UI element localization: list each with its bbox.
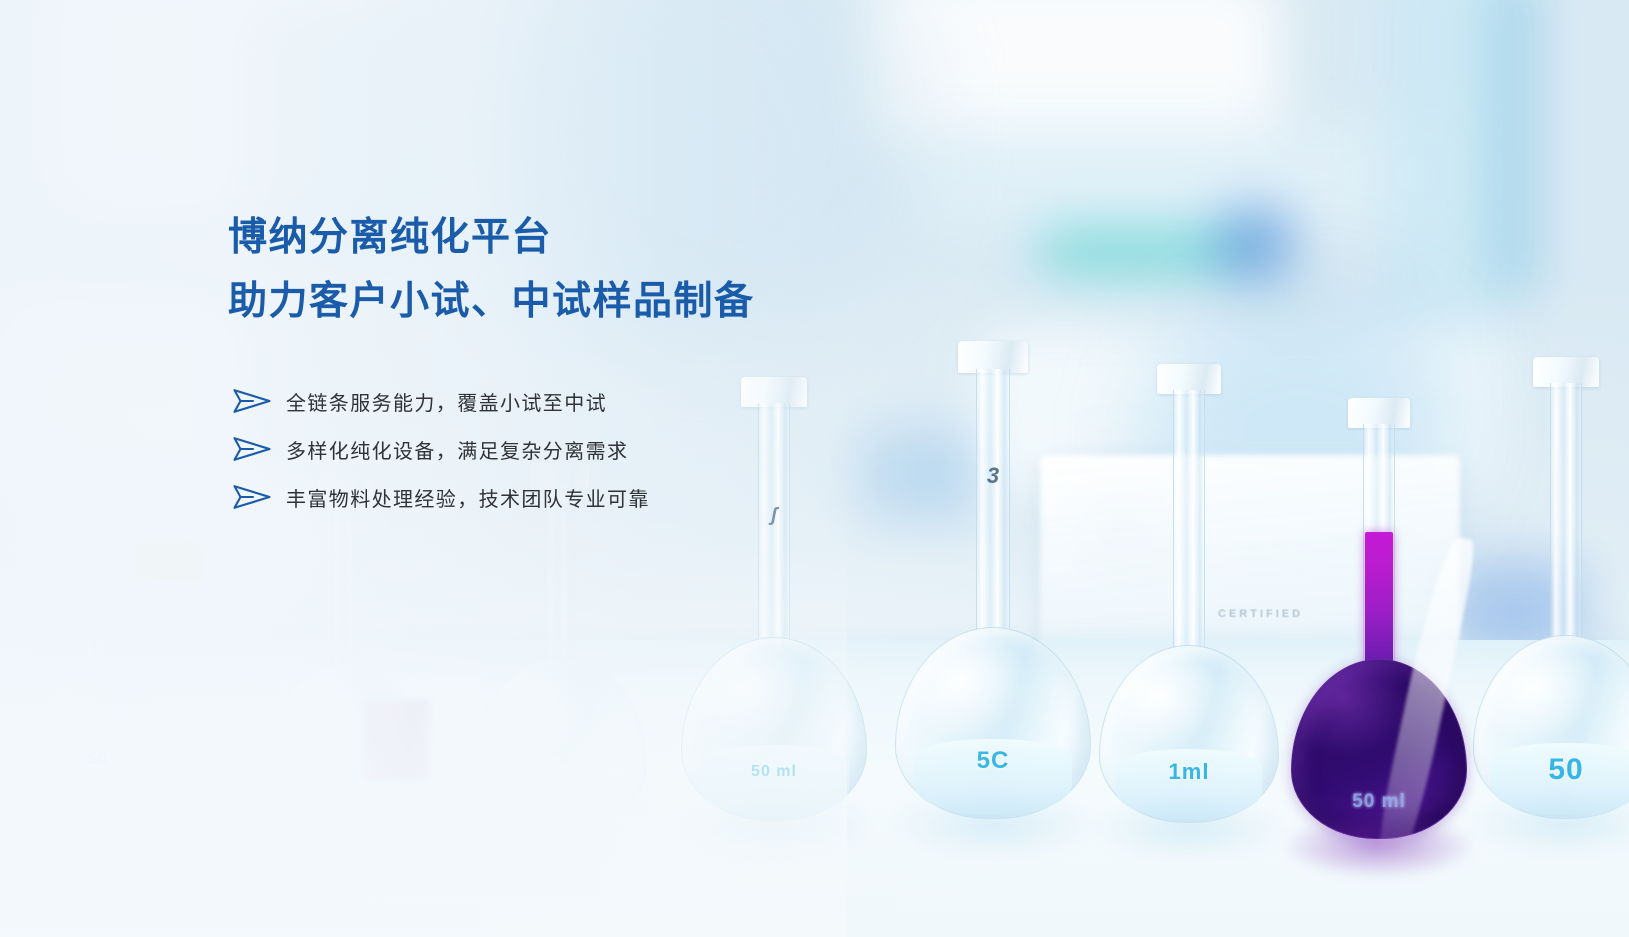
headline-line-2: 助力客户小试、中试样品制备 xyxy=(228,270,988,334)
feature-list: 全链条服务能力，覆盖小试至中试 多样化纯化设备，满足复杂分离需求 xyxy=(230,377,988,521)
yellow-card xyxy=(133,542,203,582)
flask-1: 50 xyxy=(18,537,178,937)
send-arrow-icon xyxy=(230,482,274,512)
hero-banner: CERTIFIED 50 xyxy=(0,0,1629,937)
page-title: 博纳分离纯化平台 助力客户小试、中试样品制备 xyxy=(228,206,988,333)
headline-line-1: 博纳分离纯化平台 xyxy=(228,206,988,270)
list-item: 丰富物料处理经验，技术团队专业可靠 xyxy=(230,473,988,521)
send-arrow-icon xyxy=(230,386,274,416)
feature-text: 丰富物料处理经验，技术团队专业可靠 xyxy=(286,483,650,512)
list-item: 多样化纯化设备，满足复杂分离需求 xyxy=(230,425,988,473)
banner-content: 博纳分离纯化平台 助力客户小试、中试样品制备 全链条服务能力，覆盖小试至中试 xyxy=(228,206,988,521)
feature-text: 全链条服务能力，覆盖小试至中试 xyxy=(286,387,607,416)
send-arrow-icon xyxy=(230,434,274,464)
list-item: 全链条服务能力，覆盖小试至中试 xyxy=(230,377,988,425)
flask-7-purple: 50 ml xyxy=(1284,392,1474,937)
feature-text: 多样化纯化设备，满足复杂分离需求 xyxy=(286,435,628,464)
lilac-cube xyxy=(364,700,430,780)
flask-8: 50 xyxy=(1468,377,1629,937)
flask-6: 1ml xyxy=(1094,372,1284,937)
flask-3 xyxy=(468,457,652,937)
